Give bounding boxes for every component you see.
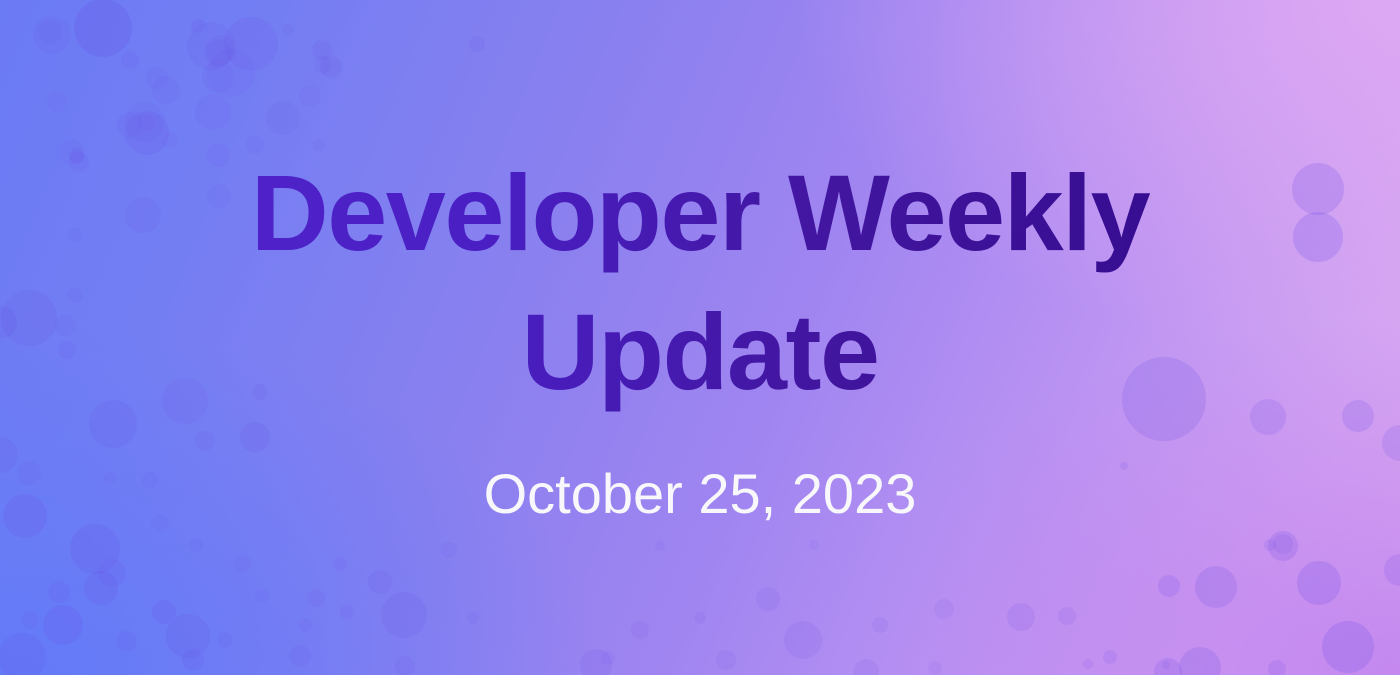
page-title: Developer Weekly Update (200, 144, 1200, 420)
banner-content: Developer Weekly Update October 25, 2023 (0, 0, 1400, 675)
developer-weekly-update-banner: Developer Weekly Update October 25, 2023 (0, 0, 1400, 675)
issue-date: October 25, 2023 (484, 463, 917, 525)
